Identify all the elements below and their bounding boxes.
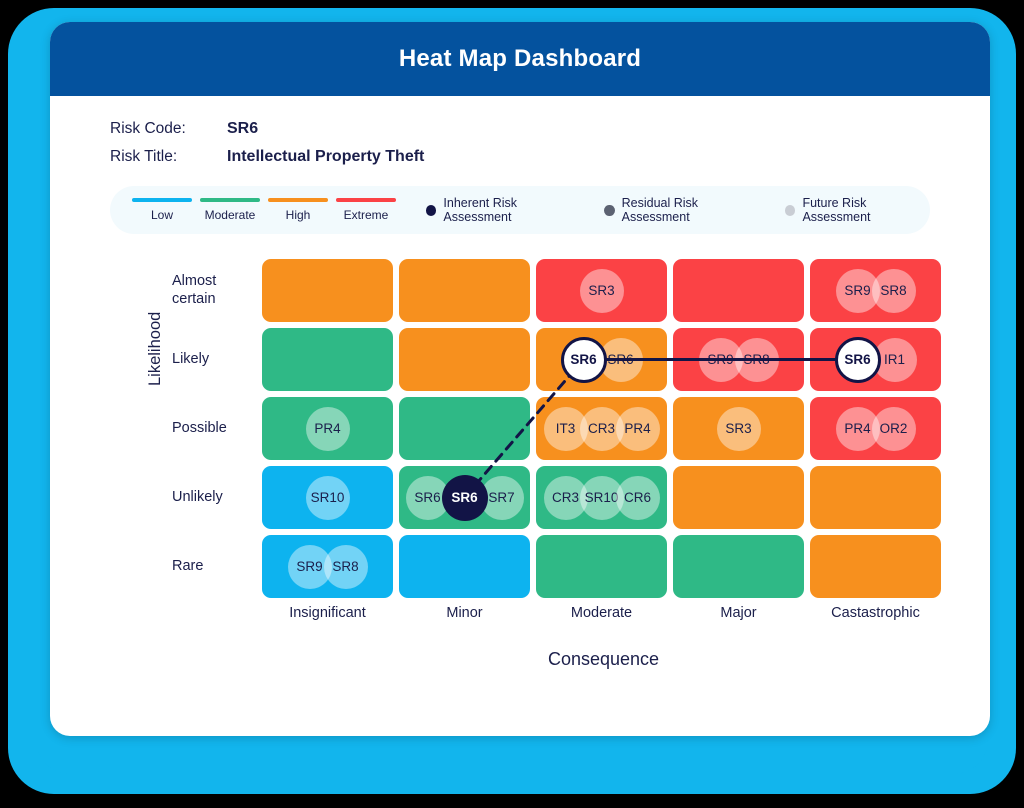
assessment-legend-label: Future Risk Assessment	[802, 196, 930, 224]
device-frame: Heat Map Dashboard Risk Code: SR6 Risk T…	[8, 8, 1016, 794]
severity-legend: LowModerateHighExtreme	[132, 198, 396, 222]
assessment-dot-icon	[785, 205, 795, 216]
likelihood-label: Unlikely	[172, 489, 262, 507]
risk-bubble-group: SR6SR6	[565, 337, 639, 383]
severity-legend-item[interactable]: Extreme	[336, 198, 396, 222]
likelihood-label: Rare	[172, 558, 262, 576]
heatmap-cell[interactable]: PR4OR2	[810, 397, 941, 460]
dashboard-card: Heat Map Dashboard Risk Code: SR6 Risk T…	[50, 22, 990, 736]
consequence-label: Castastrophic	[810, 605, 941, 621]
heatmap-cell[interactable]	[673, 466, 804, 529]
heatmap-row: PossiblePR4IT3CR3PR4SR3PR4OR2	[172, 394, 972, 463]
heatmap-cell[interactable]: SR3	[536, 259, 667, 322]
heatmap-cell[interactable]	[399, 328, 530, 391]
heatmap-cell[interactable]	[673, 535, 804, 598]
severity-legend-label: Extreme	[336, 208, 396, 222]
risk-bubble-future[interactable]: PR4	[616, 407, 660, 451]
heatmap-grid: Almost certainSR3SR9SR8LikelySR6SR6SR9SR…	[172, 256, 972, 670]
heatmap-cell[interactable]	[399, 259, 530, 322]
severity-swatch-extreme	[336, 198, 396, 202]
heatmap-cell[interactable]: SR9SR8	[810, 259, 941, 322]
severity-legend-label: High	[268, 208, 328, 222]
risk-bubble-highlight[interactable]: SR6	[561, 337, 607, 383]
risk-bubble-group: PR4OR2	[840, 407, 912, 451]
risk-bubble-group: SR9SR8	[292, 545, 364, 589]
heatmap-row-cells: SR3SR9SR8	[262, 259, 941, 322]
severity-legend-label: Low	[132, 208, 192, 222]
risk-code-label: Risk Code:	[110, 120, 227, 138]
heatmap-cell[interactable]	[810, 466, 941, 529]
consequence-label: Major	[673, 605, 804, 621]
consequence-label: Insignificant	[262, 605, 393, 621]
assessment-legend-label: Residual Risk Assessment	[622, 196, 761, 224]
risk-title-row: Risk Title: Intellectual Property Theft	[110, 148, 990, 166]
heatmap-cell[interactable]	[399, 397, 530, 460]
heatmap-cell[interactable]: SR6SR6	[536, 328, 667, 391]
severity-legend-label: Moderate	[200, 208, 260, 222]
risk-bubble-future[interactable]: SR3	[717, 407, 761, 451]
risk-bubble-future[interactable]: SR8	[324, 545, 368, 589]
heatmap-row-cells: SR9SR8	[262, 535, 941, 598]
risk-bubble-future[interactable]: SR8	[735, 338, 779, 382]
risk-bubble-future[interactable]: CR6	[616, 476, 660, 520]
risk-bubble-highlight[interactable]: SR6	[835, 337, 881, 383]
assessment-legend-item[interactable]: Inherent Risk Assessment	[426, 196, 580, 224]
heatmap-cell[interactable]: SR9SR8	[262, 535, 393, 598]
risk-bubble-group: SR6SR6SR7	[410, 475, 520, 521]
heatmap-cell[interactable]: SR9SR8	[673, 328, 804, 391]
assessment-dot-icon	[426, 205, 436, 216]
consequence-label: Moderate	[536, 605, 667, 621]
x-axis-labels: InsignificantMinorModerateMajorCastastro…	[262, 605, 972, 621]
risk-code-value: SR6	[227, 120, 258, 138]
risk-bubble-group: SR3	[584, 269, 620, 313]
heatmap-cell[interactable]	[262, 259, 393, 322]
risk-bubble-group: IT3CR3PR4	[548, 407, 656, 451]
risk-bubble-group: CR3SR10CR6	[548, 476, 656, 520]
heatmap-row: LikelySR6SR6SR9SR8SR6IR1	[172, 325, 972, 394]
assessment-legend-label: Inherent Risk Assessment	[443, 196, 580, 224]
page-title: Heat Map Dashboard	[399, 45, 641, 73]
heatmap-row-cells: SR6SR6SR9SR8SR6IR1	[262, 328, 941, 391]
legend-bar: LowModerateHighExtreme Inherent Risk Ass…	[110, 186, 930, 234]
heatmap-row-cells: SR10SR6SR6SR7CR3SR10CR6	[262, 466, 941, 529]
severity-legend-item[interactable]: Low	[132, 198, 192, 222]
risk-bubble-future[interactable]: OR2	[872, 407, 916, 451]
risk-bubble-group: SR3	[721, 407, 757, 451]
consequence-label: Minor	[399, 605, 530, 621]
risk-bubble-future[interactable]: SR8	[872, 269, 916, 313]
risk-bubble-group: PR4	[310, 407, 346, 451]
heatmap-cell[interactable]: CR3SR10CR6	[536, 466, 667, 529]
heatmap-cell[interactable]: SR6SR6SR7	[399, 466, 530, 529]
heatmap-cell[interactable]: SR6IR1	[810, 328, 941, 391]
severity-swatch-moderate	[200, 198, 260, 202]
risk-bubble-group: SR10	[310, 476, 346, 520]
risk-title-value: Intellectual Property Theft	[227, 148, 424, 166]
risk-bubble-group: SR9SR8	[840, 269, 912, 313]
heatmap-cell[interactable]: SR3	[673, 397, 804, 460]
y-axis-title: Likelihood	[146, 312, 165, 386]
likelihood-label: Likely	[172, 351, 262, 369]
risk-meta-block: Risk Code: SR6 Risk Title: Intellectual …	[50, 96, 990, 166]
severity-swatch-low	[132, 198, 192, 202]
heatmap-cell[interactable]	[536, 535, 667, 598]
heatmap-row: Almost certainSR3SR9SR8	[172, 256, 972, 325]
heatmap-row: RareSR9SR8	[172, 532, 972, 601]
risk-bubble-group: SR9SR8	[703, 338, 775, 382]
heatmap-cell[interactable]	[810, 535, 941, 598]
heatmap-cell[interactable]: IT3CR3PR4	[536, 397, 667, 460]
assessment-legend-item[interactable]: Residual Risk Assessment	[604, 196, 761, 224]
likelihood-label: Almost certain	[172, 273, 262, 308]
risk-title-label: Risk Title:	[110, 148, 227, 166]
risk-bubble-future[interactable]: PR4	[306, 407, 350, 451]
heatmap-cell[interactable]	[673, 259, 804, 322]
heatmap-area: Likelihood Almost certainSR3SR9SR8Likely…	[50, 256, 990, 666]
risk-bubble-inherent[interactable]: SR6	[442, 475, 488, 521]
heatmap-cell[interactable]	[399, 535, 530, 598]
heatmap-cell[interactable]: SR10	[262, 466, 393, 529]
risk-bubble-future[interactable]: SR3	[580, 269, 624, 313]
likelihood-label: Possible	[172, 420, 262, 438]
severity-legend-item[interactable]: Moderate	[200, 198, 260, 222]
app-header: Heat Map Dashboard	[50, 22, 990, 96]
heatmap-row: UnlikelySR10SR6SR6SR7CR3SR10CR6	[172, 463, 972, 532]
assessment-legend-item[interactable]: Future Risk Assessment	[785, 196, 930, 224]
x-axis-title: Consequence	[262, 649, 945, 670]
risk-code-row: Risk Code: SR6	[110, 120, 990, 138]
heatmap-row-cells: PR4IT3CR3PR4SR3PR4OR2	[262, 397, 941, 460]
heatmap-cell[interactable]	[262, 328, 393, 391]
severity-swatch-high	[268, 198, 328, 202]
severity-legend-item[interactable]: High	[268, 198, 328, 222]
assessment-dot-icon	[604, 205, 614, 216]
risk-bubble-future[interactable]: SR10	[306, 476, 350, 520]
heatmap-cell[interactable]: PR4	[262, 397, 393, 460]
risk-bubble-group: SR6IR1	[839, 337, 913, 383]
assessment-legend: Inherent Risk AssessmentResidual Risk As…	[426, 196, 930, 224]
